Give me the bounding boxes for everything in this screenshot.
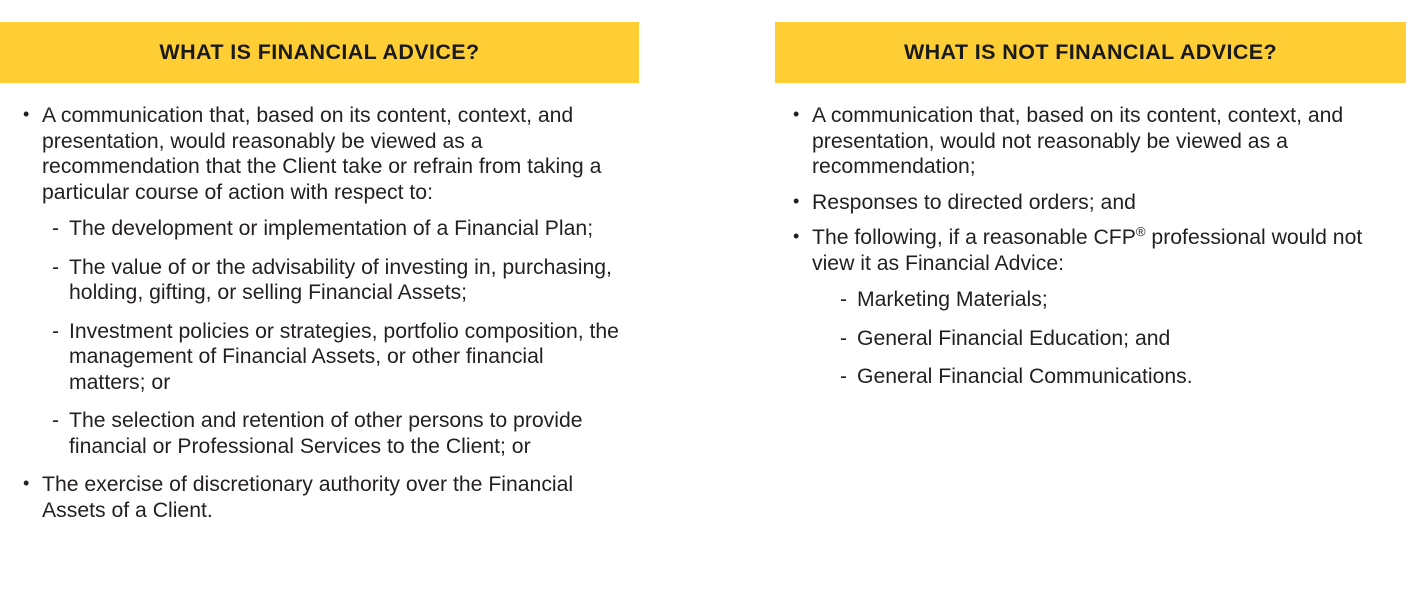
list-item-text: The following, if a reasonable CFP® prof… [812, 225, 1400, 276]
list-item-text-prefix: The following, if a reasonable CFP [812, 226, 1136, 249]
list-item-text: A communication that, based on its conte… [42, 103, 620, 205]
right-panel-title: WHAT IS NOT FINANCIAL ADVICE? [904, 40, 1277, 65]
list-item-text: General Financial Communications. [857, 364, 1400, 390]
right-bullet-list: • A communication that, based on its con… [793, 103, 1400, 390]
bullet-marker-icon: • [793, 189, 799, 215]
column-gap [640, 0, 775, 600]
list-item-text: Marketing Materials; [857, 287, 1400, 313]
registered-mark-icon: ® [1136, 224, 1146, 239]
dash-marker-icon: - [52, 255, 59, 281]
list-item-text: A communication that, based on its conte… [812, 103, 1400, 180]
bullet-marker-icon: • [23, 471, 29, 497]
left-panel: WHAT IS FINANCIAL ADVICE? • A communicat… [0, 0, 640, 600]
list-item: • A communication that, based on its con… [23, 103, 620, 459]
left-panel-title: WHAT IS FINANCIAL ADVICE? [159, 40, 479, 65]
list-item-text: The development or implementation of a F… [69, 216, 620, 242]
list-item-text: The value of or the advisability of inve… [69, 255, 620, 306]
right-sub-bullet-list: - Marketing Materials; - General Financi… [812, 287, 1400, 390]
list-item-text: General Financial Education; and [857, 326, 1400, 352]
list-item: - Marketing Materials; [840, 287, 1400, 313]
right-panel: WHAT IS NOT FINANCIAL ADVICE? • A commun… [775, 0, 1414, 600]
list-item: - General Financial Education; and [840, 326, 1400, 352]
dash-marker-icon: - [52, 408, 59, 434]
dash-marker-icon: - [840, 364, 847, 390]
list-item: - The development or implementation of a… [52, 216, 620, 242]
list-item: - Investment policies or strategies, por… [52, 319, 620, 396]
slide-root: WHAT IS FINANCIAL ADVICE? • A communicat… [0, 0, 1414, 600]
dash-marker-icon: - [840, 326, 847, 352]
list-item: - The selection and retention of other p… [52, 408, 620, 459]
list-item: - The value of or the advisability of in… [52, 255, 620, 306]
left-panel-banner: WHAT IS FINANCIAL ADVICE? [0, 22, 639, 83]
list-item: • The following, if a reasonable CFP® pr… [793, 225, 1400, 390]
bullet-marker-icon: • [793, 102, 799, 128]
list-item: • A communication that, based on its con… [793, 103, 1400, 180]
right-panel-banner: WHAT IS NOT FINANCIAL ADVICE? [775, 22, 1406, 83]
list-item-text: The exercise of discretionary authority … [42, 472, 620, 523]
two-column-layout: WHAT IS FINANCIAL ADVICE? • A communicat… [0, 0, 1414, 600]
dash-marker-icon: - [840, 287, 847, 313]
list-item-text: Responses to directed orders; and [812, 190, 1400, 216]
list-item-text: Investment policies or strategies, portf… [69, 319, 620, 396]
list-item: • Responses to directed orders; and [793, 190, 1400, 216]
list-item: - General Financial Communications. [840, 364, 1400, 390]
dash-marker-icon: - [52, 216, 59, 242]
bullet-marker-icon: • [23, 102, 29, 128]
dash-marker-icon: - [52, 319, 59, 345]
left-sub-bullet-list: - The development or implementation of a… [42, 216, 620, 459]
left-panel-content: • A communication that, based on its con… [0, 83, 640, 523]
right-panel-content: • A communication that, based on its con… [775, 83, 1414, 390]
list-item: • The exercise of discretionary authorit… [23, 472, 620, 523]
bullet-marker-icon: • [793, 224, 799, 250]
left-bullet-list: • A communication that, based on its con… [23, 103, 620, 523]
list-item-text: The selection and retention of other per… [69, 408, 620, 459]
